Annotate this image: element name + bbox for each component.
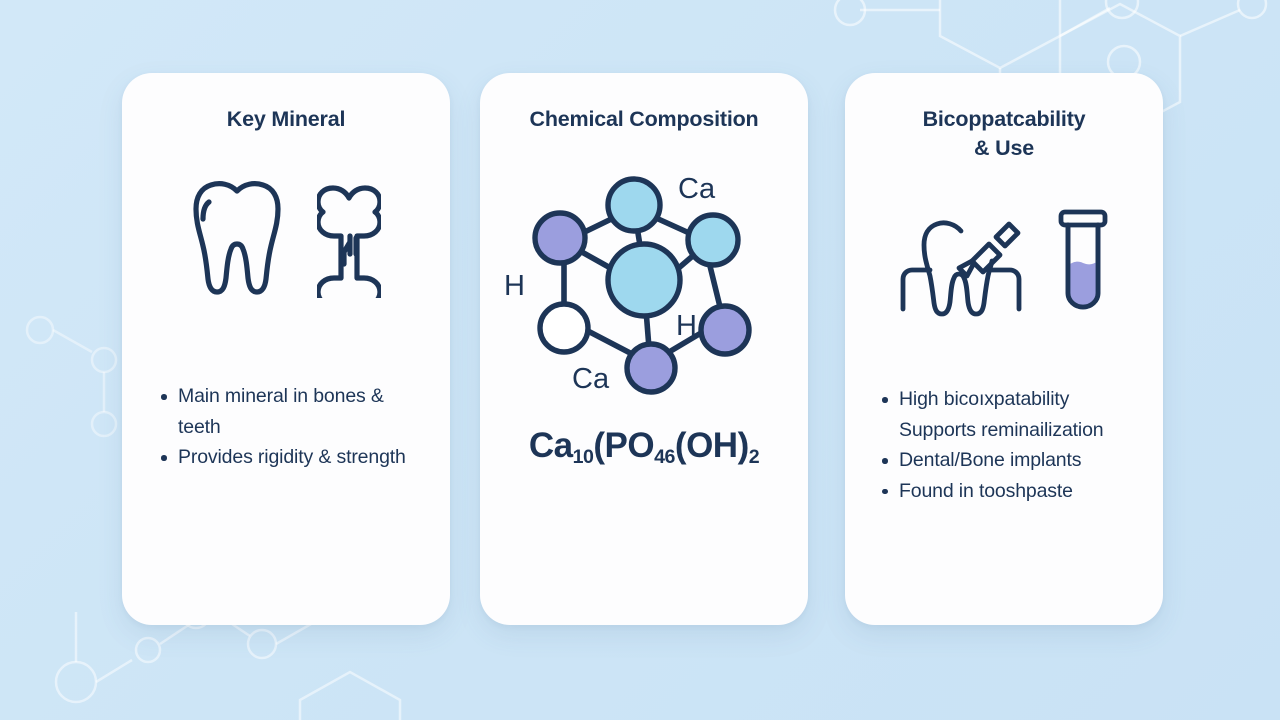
molecule-label-h-right: H bbox=[676, 310, 697, 342]
card-biocompatibility-use[interactable]: Bicoppatcability & Use bbox=[845, 73, 1163, 625]
infographic-stage: Key Mineral Main mineral in bones & t bbox=[0, 0, 1280, 720]
test-tube-icon bbox=[1055, 203, 1111, 324]
molecule-diagram: Ca H H Ca bbox=[480, 150, 808, 400]
chemical-formula: Ca10(PO46(OH)2 bbox=[480, 426, 808, 466]
list-item: Dental/Bone implants bbox=[879, 445, 1149, 476]
list-item: Main mineral in bones & teeth bbox=[158, 381, 418, 442]
list-item: Supports reminailization bbox=[879, 415, 1149, 446]
tooth-icon bbox=[191, 178, 283, 301]
formula-subscript: 10 bbox=[573, 446, 594, 468]
icon-row-key-mineral bbox=[122, 176, 450, 303]
card-chemical-composition[interactable]: Chemical Composition bbox=[480, 73, 808, 625]
molecule-label-ca-bottom: Ca bbox=[572, 363, 610, 395]
list-item: High bicoıxpatability bbox=[879, 384, 1149, 415]
formula-part: Ca bbox=[529, 426, 573, 465]
card-title-biocompatibility-use: Bicoppatcability & Use bbox=[845, 105, 1163, 163]
icon-row-biocompatibility bbox=[845, 203, 1163, 324]
list-item: Found in tooshpaste bbox=[879, 476, 1149, 507]
bullet-list-key-mineral: Main mineral in bones & teeth Provides r… bbox=[158, 381, 418, 473]
formula-subscript: 46 bbox=[654, 446, 675, 468]
formula-subscript: 2 bbox=[749, 446, 759, 468]
bullet-list-biocompatibility: High bicoıxpatability Supports reminaili… bbox=[879, 384, 1149, 506]
card-title-chemical-composition: Chemical Composition bbox=[480, 105, 808, 134]
tooth-drill-icon bbox=[897, 205, 1025, 322]
bone-icon bbox=[317, 176, 381, 303]
card-title-line-1: Bicoppatcability bbox=[863, 105, 1145, 134]
molecule-label-ca-top: Ca bbox=[678, 173, 716, 205]
card-title-line-2: & Use bbox=[863, 134, 1145, 163]
formula-part: (OH) bbox=[675, 426, 749, 465]
molecule-label-h-left: H bbox=[504, 270, 525, 302]
card-key-mineral[interactable]: Key Mineral Main mineral in bones & t bbox=[122, 73, 450, 625]
card-title-key-mineral: Key Mineral bbox=[122, 105, 450, 134]
formula-part: (PO bbox=[593, 426, 654, 465]
list-item: Provides rigidity & strength bbox=[158, 442, 418, 473]
